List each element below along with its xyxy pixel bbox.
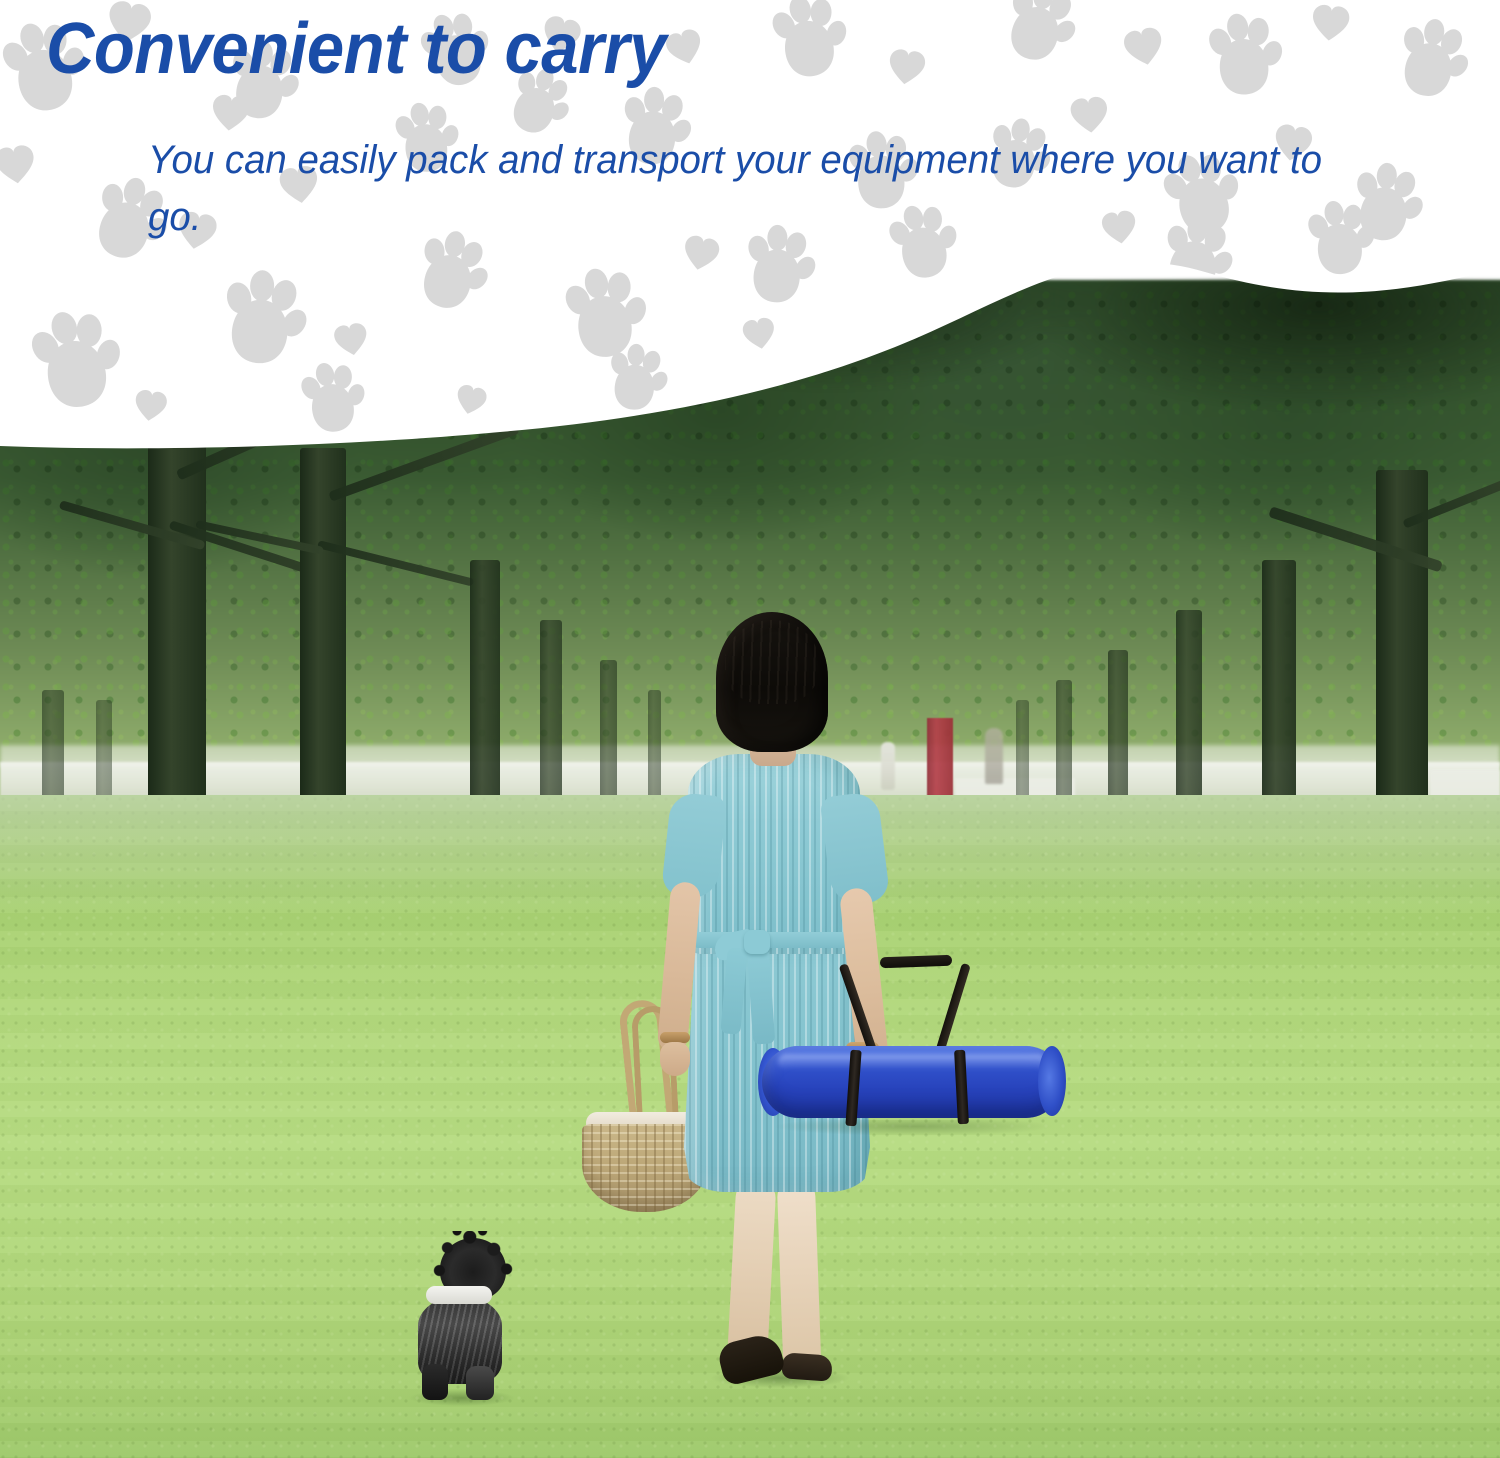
- right-leg: [777, 1177, 822, 1366]
- dog-figure: [404, 1238, 534, 1408]
- page-title: Convenient to carry: [46, 8, 666, 90]
- woman-figure: [640, 612, 970, 1402]
- mat-highlight: [778, 1054, 1046, 1070]
- left-leg: [727, 1177, 776, 1355]
- banner-stage: Convenient to carry You can easily pack …: [0, 0, 1500, 1458]
- right-sandal: [781, 1352, 833, 1381]
- dog-collar: [426, 1286, 492, 1304]
- background-statue: [985, 728, 1003, 784]
- mat-shadow: [772, 1120, 1054, 1136]
- belt-bow-knot: [744, 930, 770, 954]
- hair-bob: [716, 612, 828, 752]
- mat-end-right: [1038, 1046, 1066, 1116]
- rolled-yoga-mat: [762, 1028, 1062, 1124]
- left-hand: [660, 1042, 690, 1076]
- dog-leg-right: [466, 1366, 494, 1400]
- banner-subheadline: You can easily pack and transport your e…: [148, 132, 1358, 246]
- dog-leg-left: [422, 1364, 448, 1400]
